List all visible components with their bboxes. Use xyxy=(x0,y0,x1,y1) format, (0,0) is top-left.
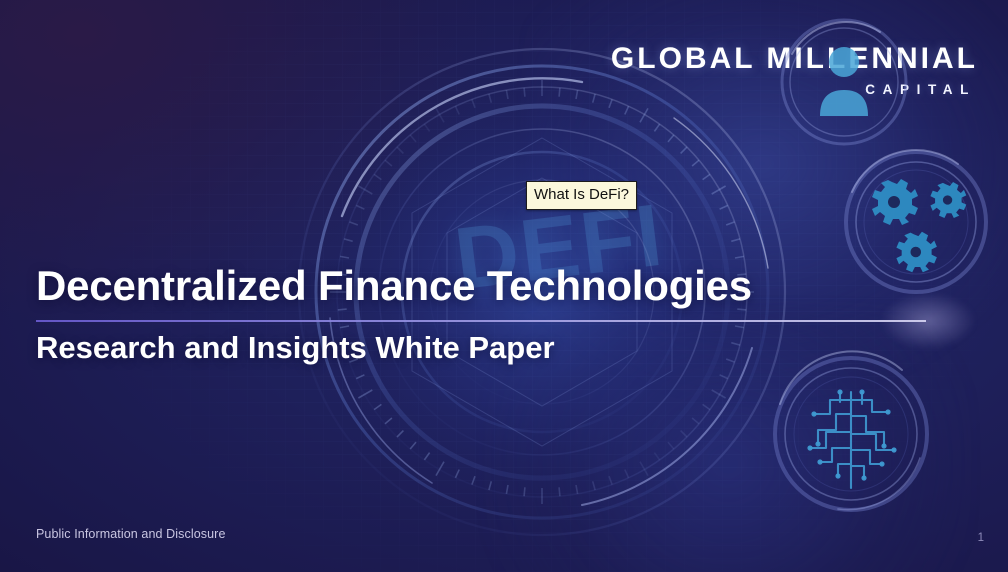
disclosure-note: Public Information and Disclosure xyxy=(36,527,226,541)
gears-icon xyxy=(872,179,966,272)
page-title: Decentralized Finance Technologies xyxy=(36,262,752,310)
page-subtitle: Research and Insights White Paper xyxy=(36,330,555,366)
circuit-brain-icon xyxy=(810,392,894,488)
person-icon xyxy=(820,47,868,116)
title-divider xyxy=(36,320,926,322)
gears-icon-badge xyxy=(826,142,1006,302)
title-slide: DEFI xyxy=(0,0,1008,572)
circuit-brain-icon-ring xyxy=(752,348,950,520)
gears-icon-ring xyxy=(826,142,1006,302)
what-is-defi-annotation[interactable]: What Is DeFi? xyxy=(526,181,637,210)
person-icon-badge xyxy=(768,12,920,152)
person-icon-ring xyxy=(768,12,920,152)
page-number: 1 xyxy=(978,532,984,544)
circuit-brain-icon-badge xyxy=(752,348,950,520)
